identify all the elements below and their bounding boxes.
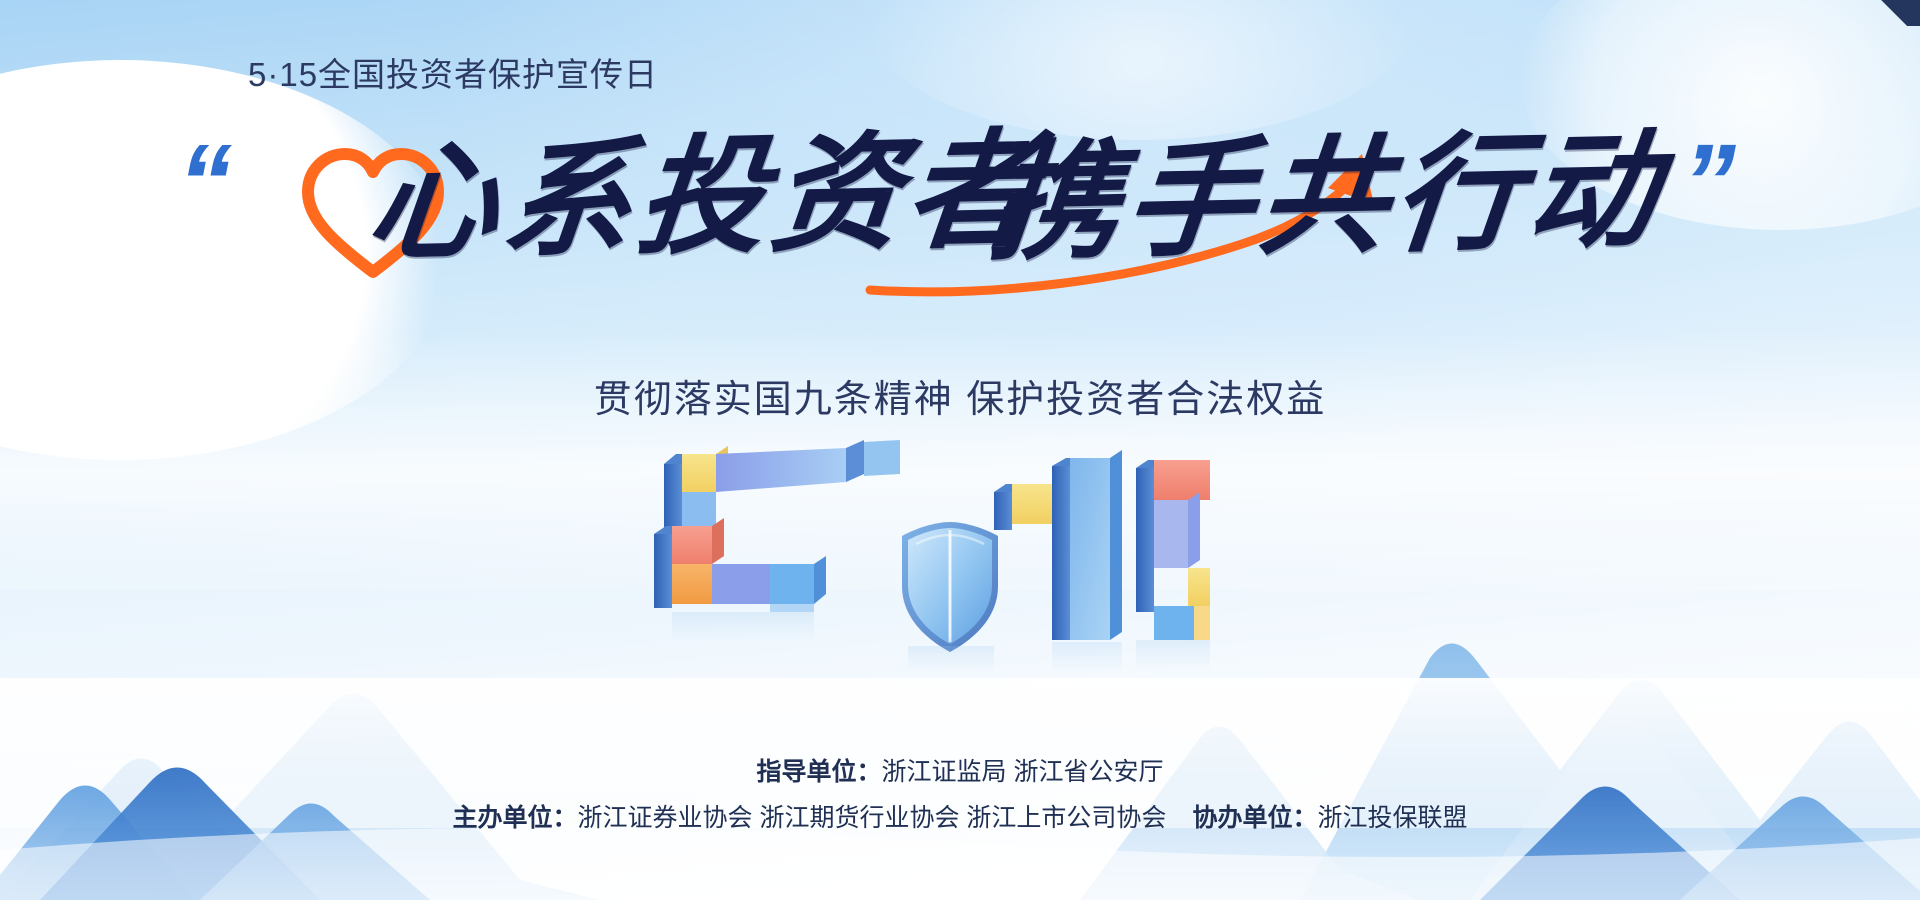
headline-right-text: 携手共行动 (983, 111, 1671, 285)
credit-value-coorg: 浙江投保联盟 (1317, 804, 1467, 832)
credit-value-host: 浙江证券业协会 浙江期货行业协会 浙江上市公司协会 (578, 804, 1167, 832)
eyebrow-title: 5·15全国投资者保护宣传日 (248, 48, 658, 96)
corner-wedge-top-right (1876, 0, 1920, 26)
open-quote-mark: “ (178, 128, 226, 236)
credit-label-guidance: 指导单位： (757, 758, 882, 786)
headline-left-text: 心系投资者 (361, 111, 1049, 285)
subtitle-text: 贯彻落实国九条精神 保护投资者合法权益 (0, 368, 1920, 423)
credit-line-organizers: 主办单位：浙江证券业协会 浙江期货行业协会 浙江上市公司协会协办单位：浙江投保联… (0, 798, 1920, 834)
credit-group-coorg: 协办单位：浙江投保联盟 (1192, 798, 1467, 834)
close-quote-mark: ” (1682, 128, 1730, 236)
credits-block: 指导单位：浙江证监局 浙江省公安厅 主办单位：浙江证券业协会 浙江期货行业协会 … (0, 752, 1920, 844)
headline-group: 心系投资者 携手共行动 (250, 118, 1680, 308)
credit-value-guidance: 浙江证监局 浙江省公安厅 (882, 758, 1164, 786)
logo-digit-5b (1136, 460, 1210, 640)
promotional-banner: 5·15全国投资者保护宣传日 “ ” 心系投资者 携手共行动 贯彻落实国九条精神… (0, 0, 1920, 900)
credit-label-host: 主办单位： (453, 804, 578, 832)
credit-label-coorg: 协办单位： (1192, 804, 1317, 832)
credit-group-host: 主办单位：浙江证券业协会 浙江期货行业协会 浙江上市公司协会 (453, 798, 1167, 834)
logo-digit-5 (654, 440, 900, 612)
logo-digit-1 (994, 450, 1122, 640)
credit-line-guidance: 指导单位：浙江证监局 浙江省公安厅 (0, 752, 1920, 788)
logo-515 (650, 440, 1210, 680)
shield-icon (902, 522, 998, 652)
